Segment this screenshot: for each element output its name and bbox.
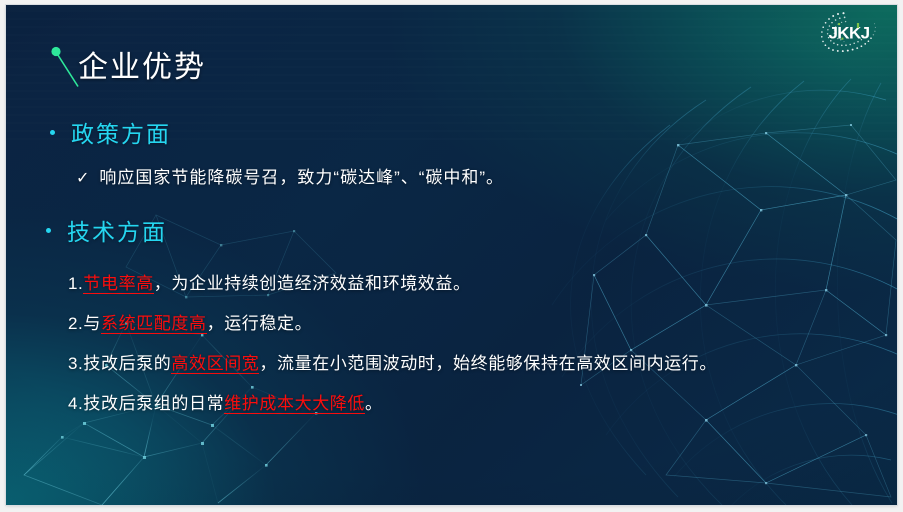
- page-title-block: 企业优势: [50, 41, 470, 99]
- tech-item-4: 4.技改后泵组的日常维护成本大大降低。: [68, 389, 383, 414]
- section-heading-policy-label: 政策方面: [71, 115, 171, 149]
- policy-item-1-text: 响应国家节能降碳号召，致力“碳达峰”、“碳中和”。: [99, 168, 504, 187]
- tech-item-2: 2.与系统匹配度高，运行稳定。: [68, 309, 312, 334]
- tech-item-3-text: ，流量在小范围波动时，始终能够保持在高效区间内运行。: [259, 354, 717, 373]
- section-heading-tech-label: 技术方面: [67, 213, 167, 247]
- policy-item-1: ✓响应国家节能降碳号召，致力“碳达峰”、“碳中和”。: [76, 163, 504, 188]
- svg-text:JKKJ: JKKJ: [828, 24, 869, 43]
- tech-item-1-marker: 1.: [68, 274, 83, 293]
- tech-item-4-marker: 4.: [68, 394, 83, 413]
- tech-item-1-text: ，为企业持续创造经济效益和环境效益。: [154, 274, 471, 293]
- tech-item-3-marker: 3.: [68, 354, 83, 373]
- page-title: 企业优势: [78, 42, 206, 86]
- slide-canvas: JKKJ: [6, 5, 897, 505]
- tech-item-1-highlight: 节电率高: [83, 274, 153, 294]
- wireframe-globe-graphic: [552, 79, 897, 505]
- bullet-dot-icon: [50, 130, 55, 135]
- tech-item-2-marker: 2.: [68, 314, 83, 333]
- bullet-dot-icon: [46, 228, 51, 233]
- tech-item-1: 1.节电率高，为企业持续创造经济效益和环境效益。: [68, 269, 471, 294]
- checkmark-icon: ✓: [76, 170, 90, 187]
- section-heading-policy: 政策方面: [50, 115, 171, 149]
- title-accent-dot: [51, 47, 60, 56]
- tech-item-4-highlight: 维护成本大大降低: [224, 394, 365, 414]
- tech-item-3-highlight: 高效区间宽: [171, 354, 259, 374]
- tech-item-2-text: ，运行稳定。: [207, 314, 313, 333]
- globe-mesh-nodes: [580, 124, 887, 484]
- title-diagonal-rule: [56, 52, 78, 87]
- globe-mesh-chords: [581, 125, 896, 497]
- tech-item-3-prefix: 技改后泵的: [83, 354, 171, 373]
- tech-item-4-prefix: 技改后泵组的日常: [83, 394, 224, 413]
- tech-item-4-text: 。: [365, 394, 383, 413]
- company-logo: JKKJ: [813, 8, 885, 54]
- logo-wordmark: JKKJ: [828, 24, 869, 43]
- tech-item-2-prefix: 与: [83, 314, 101, 333]
- section-heading-tech: 技术方面: [46, 213, 167, 247]
- tech-item-2-highlight: 系统匹配度高: [101, 314, 207, 334]
- tech-item-3: 3.技改后泵的高效区间宽，流量在小范围波动时，始终能够保持在高效区间内运行。: [68, 349, 717, 374]
